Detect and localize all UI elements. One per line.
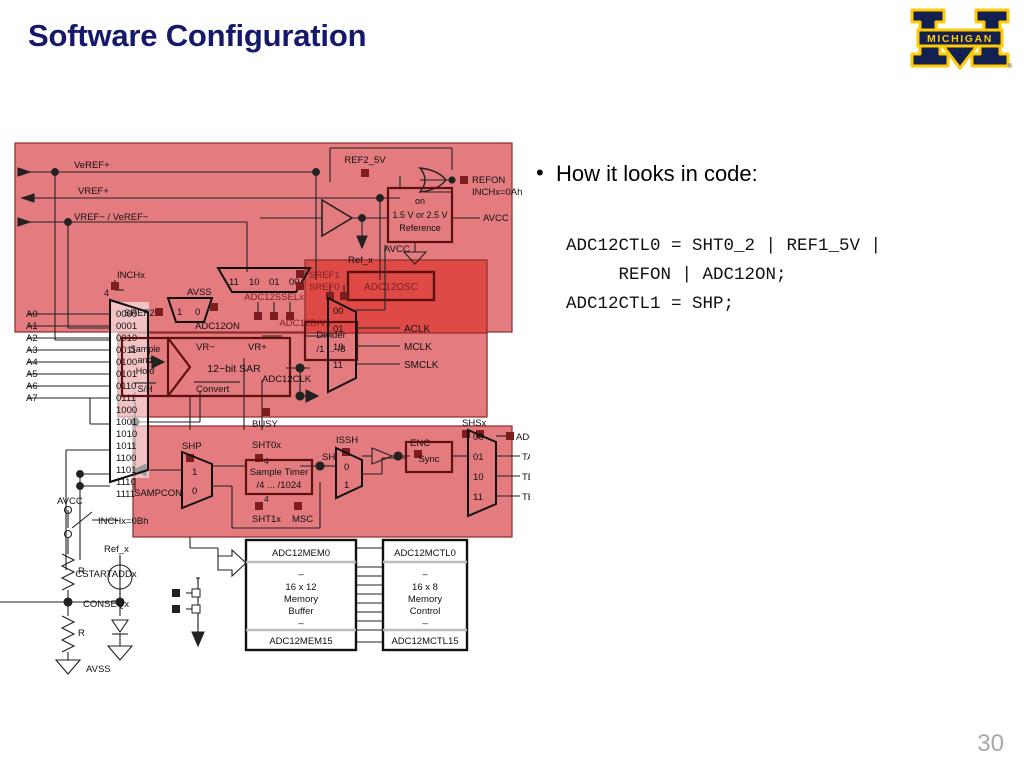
memory-control-bottom-label: ADC12MCTL15 (391, 636, 458, 647)
bullet-marker: • (536, 160, 556, 186)
inchx-label: INCHx (117, 270, 145, 281)
ref-x-label-network: Ref_x (104, 544, 129, 555)
memory-control-body-2: Memory (408, 594, 443, 605)
reference-box-line-0: on (415, 196, 425, 206)
reference-box-line-2: Reference (399, 223, 441, 233)
vref-label-2: VREF− / VeREF− (74, 212, 149, 223)
page-title: Software Configuration (28, 18, 366, 54)
memory-control-body-3: Control (410, 606, 441, 617)
clock-mux-code-0: 00 (333, 306, 344, 317)
registered-mark: ® (1008, 63, 1013, 70)
clock-mux-code-1: 01 (333, 324, 344, 335)
shs-code-0: 00 (473, 432, 484, 443)
avcc-label-network: AVCC (57, 496, 83, 507)
ref-x-label: Ref_x (348, 255, 373, 266)
memory-blocks: CSTARTADDx CONSEQx ADC12MEM0 – 16 x 12 M… (75, 540, 467, 650)
input-label-a4: A4 (26, 357, 38, 368)
sref0-label: SREF0 (309, 282, 340, 293)
mux-code-14: 1110 (116, 477, 136, 488)
list-item: • How it looks in code: (536, 160, 1006, 188)
adc12osc-label: ADC12OSC (364, 282, 418, 293)
avss-label-mux: AVSS (187, 287, 212, 298)
shp-mux-code-1: 1 (192, 467, 197, 478)
mux-code-1: 0001 (116, 321, 137, 332)
inch-0bh-label: INCHx=0Bh (98, 516, 148, 527)
logo-wordmark: MICHIGAN (927, 33, 993, 45)
michigan-logo: MICHIGAN ® (906, 6, 1014, 70)
ref-mux-code-0: 11 (229, 277, 239, 288)
sht1x-bus-width: 4 (264, 494, 269, 504)
issh-code-1: 1 (344, 480, 349, 491)
memory-buffer-body-4: – (298, 618, 304, 629)
vr-minus-label: VR− (196, 342, 215, 353)
input-label-a6: A6 (26, 381, 38, 392)
busy-label: BUSY (252, 419, 279, 430)
input-label-a0: A0 (26, 309, 38, 320)
sref1-label: SREF1 (309, 270, 340, 281)
ref2-5v-label: REF2_5V (344, 155, 386, 166)
shs-code-1: 01 (473, 452, 484, 463)
vref-label-1: VREF+ (78, 186, 109, 197)
memory-buffer-body-0: – (298, 569, 304, 580)
page-number: 30 (977, 730, 1004, 758)
adc12-block-diagram: VeREF+ VREF+ VREF− / VeREF− REF2_5V REFO… (0, 130, 530, 675)
conseqx-label: CONSEQx (83, 599, 129, 610)
ref-mux-code-1: 10 (249, 277, 260, 288)
refon-label: REFON (472, 175, 505, 186)
mux-code-10: 1010 (116, 429, 137, 440)
memory-buffer-body-3: Buffer (288, 606, 313, 617)
avcc-label-ref: AVCC (483, 213, 509, 224)
shs-source-tb0: TB0 (522, 472, 530, 483)
memory-control-body-1: 16 x 8 (412, 582, 438, 593)
shsx-label: SHSx (462, 418, 487, 429)
mux-code-12: 1100 (116, 453, 136, 464)
clock-mux-code-2: 10 (333, 342, 344, 353)
memory-buffer-bottom-label: ADC12MEM15 (269, 636, 332, 647)
vr-plus-label: VR+ (248, 342, 267, 353)
input-label-a3: A3 (26, 345, 38, 356)
code-snippet: ADC12CTL0 = SHT0_2 | REF1_5V | REFON | A… (566, 232, 1016, 319)
cstartaddx-label: CSTARTADDx (75, 569, 136, 580)
slide-root: Software Configuration MICHIGAN ® • How … (0, 0, 1024, 768)
mux-code-4: 0100 (116, 357, 137, 368)
shs-code-3: 11 (473, 492, 483, 503)
shp-mux-code-0: 0 (192, 486, 197, 497)
resistor-label-bottom: R (78, 628, 85, 639)
sht1x-label: SHT1x (252, 514, 281, 525)
inch-ref-label: INCHx=0Ah (472, 187, 522, 198)
memory-buffer-body-2: Memory (284, 594, 319, 605)
sht0x-label: SHT0x (252, 440, 281, 451)
sample-hold-line-0: Sample (130, 344, 161, 354)
sample-timer-line-0: Sample Timer (250, 467, 309, 478)
mux-code-11: 1011 (116, 441, 136, 452)
vref-label-0: VeREF+ (74, 160, 110, 171)
clock-source-mclk: MCLK (404, 342, 432, 353)
issh-label: ISSH (336, 435, 358, 446)
adc12ssel-label: ADC12SSELx (244, 292, 304, 303)
input-label-a2: A2 (26, 333, 38, 344)
sync-label: Sync (418, 454, 439, 465)
sar-label: 12−bit SAR (207, 363, 261, 375)
mux-code-5: 0101 (116, 369, 137, 380)
memory-buffer-body-1: 16 x 12 (285, 582, 316, 593)
sref2-code-1: 1 (177, 307, 182, 318)
clock-source-smclk: SMCLK (404, 360, 439, 371)
shs-source-tb1: TB1 (522, 492, 530, 503)
sampcon-label: SAMPCON (134, 488, 182, 499)
ref2-5v-tap (361, 169, 369, 177)
shs-source-ta1: TA1 (522, 452, 530, 463)
sample-hold-line-2: Hold (136, 366, 155, 376)
sref2-label: SREF2 (124, 308, 155, 319)
ref-mux-code-2: 01 (269, 277, 280, 288)
inchx-tap (111, 282, 119, 290)
input-label-a5: A5 (26, 369, 38, 380)
bullet-label: How it looks in code: (556, 160, 758, 188)
clock-source-aclk: ACLK (404, 324, 430, 335)
memory-control-top-label: ADC12MCTL0 (394, 548, 456, 559)
memory-control-body-4: – (422, 618, 428, 629)
issh-code-0: 0 (344, 462, 349, 473)
mux-code-13: 1101 (116, 465, 136, 476)
input-label-a1: A1 (26, 321, 38, 332)
input-label-a7: A7 (26, 393, 38, 404)
shs-source-adc12sc: ADC12SC (516, 432, 530, 443)
convert-label: Convert (196, 384, 230, 395)
enc-label: ENC (410, 438, 430, 449)
shs-code-2: 10 (473, 472, 484, 483)
sample-timer-line-1: /4 ... /1024 (257, 480, 302, 491)
mux-code-9: 1001 (116, 417, 137, 428)
mux-code-6: 0110 (116, 381, 136, 392)
sh-label: S/H (137, 384, 152, 394)
memory-buffer-top-label: ADC12MEM0 (272, 548, 330, 559)
msc-label: MSC (292, 514, 313, 525)
reference-box-line-1: 1.5 V or 2.5 V (392, 210, 447, 220)
mux-code-7: 0111 (116, 393, 136, 404)
adc12on-label: ADC12ON (195, 321, 240, 332)
bullet-list: • How it looks in code: (536, 160, 1006, 188)
mux-code-8: 1000 (116, 405, 137, 416)
memory-control-body-0: – (422, 569, 428, 580)
adc12clk-label: ADC12CLK (262, 374, 312, 385)
mux-code-15: 1111 (116, 489, 135, 500)
clock-mux-code-3: 11 (333, 360, 343, 371)
shp-label: SHP (182, 441, 202, 452)
sref2-tap (155, 308, 163, 316)
avss-label-network: AVSS (86, 664, 111, 675)
sample-hold-line-1: and (137, 355, 152, 365)
sref2-code-0: 0 (195, 307, 200, 318)
inchx-bus-width: 4 (104, 288, 109, 298)
avcc-label-mux: AVCC (384, 244, 410, 255)
